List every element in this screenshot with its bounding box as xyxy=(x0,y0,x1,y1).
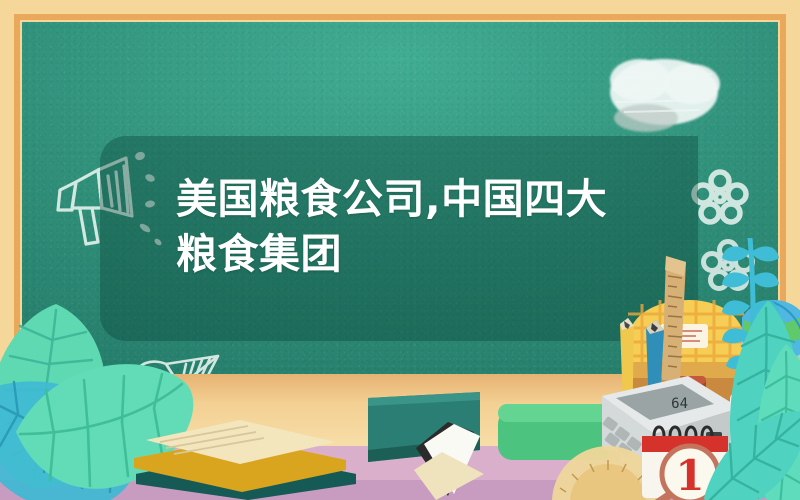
calculator-display-value: 64 xyxy=(671,396,688,412)
poster-canvas: 美国粮食公司,中国四大粮食集团 xyxy=(0,0,800,500)
leaf-icon xyxy=(700,400,800,500)
books-stack xyxy=(130,404,360,500)
page-title: 美国粮食公司,中国四大粮食集团 xyxy=(176,172,646,282)
flower-icon xyxy=(690,168,750,226)
